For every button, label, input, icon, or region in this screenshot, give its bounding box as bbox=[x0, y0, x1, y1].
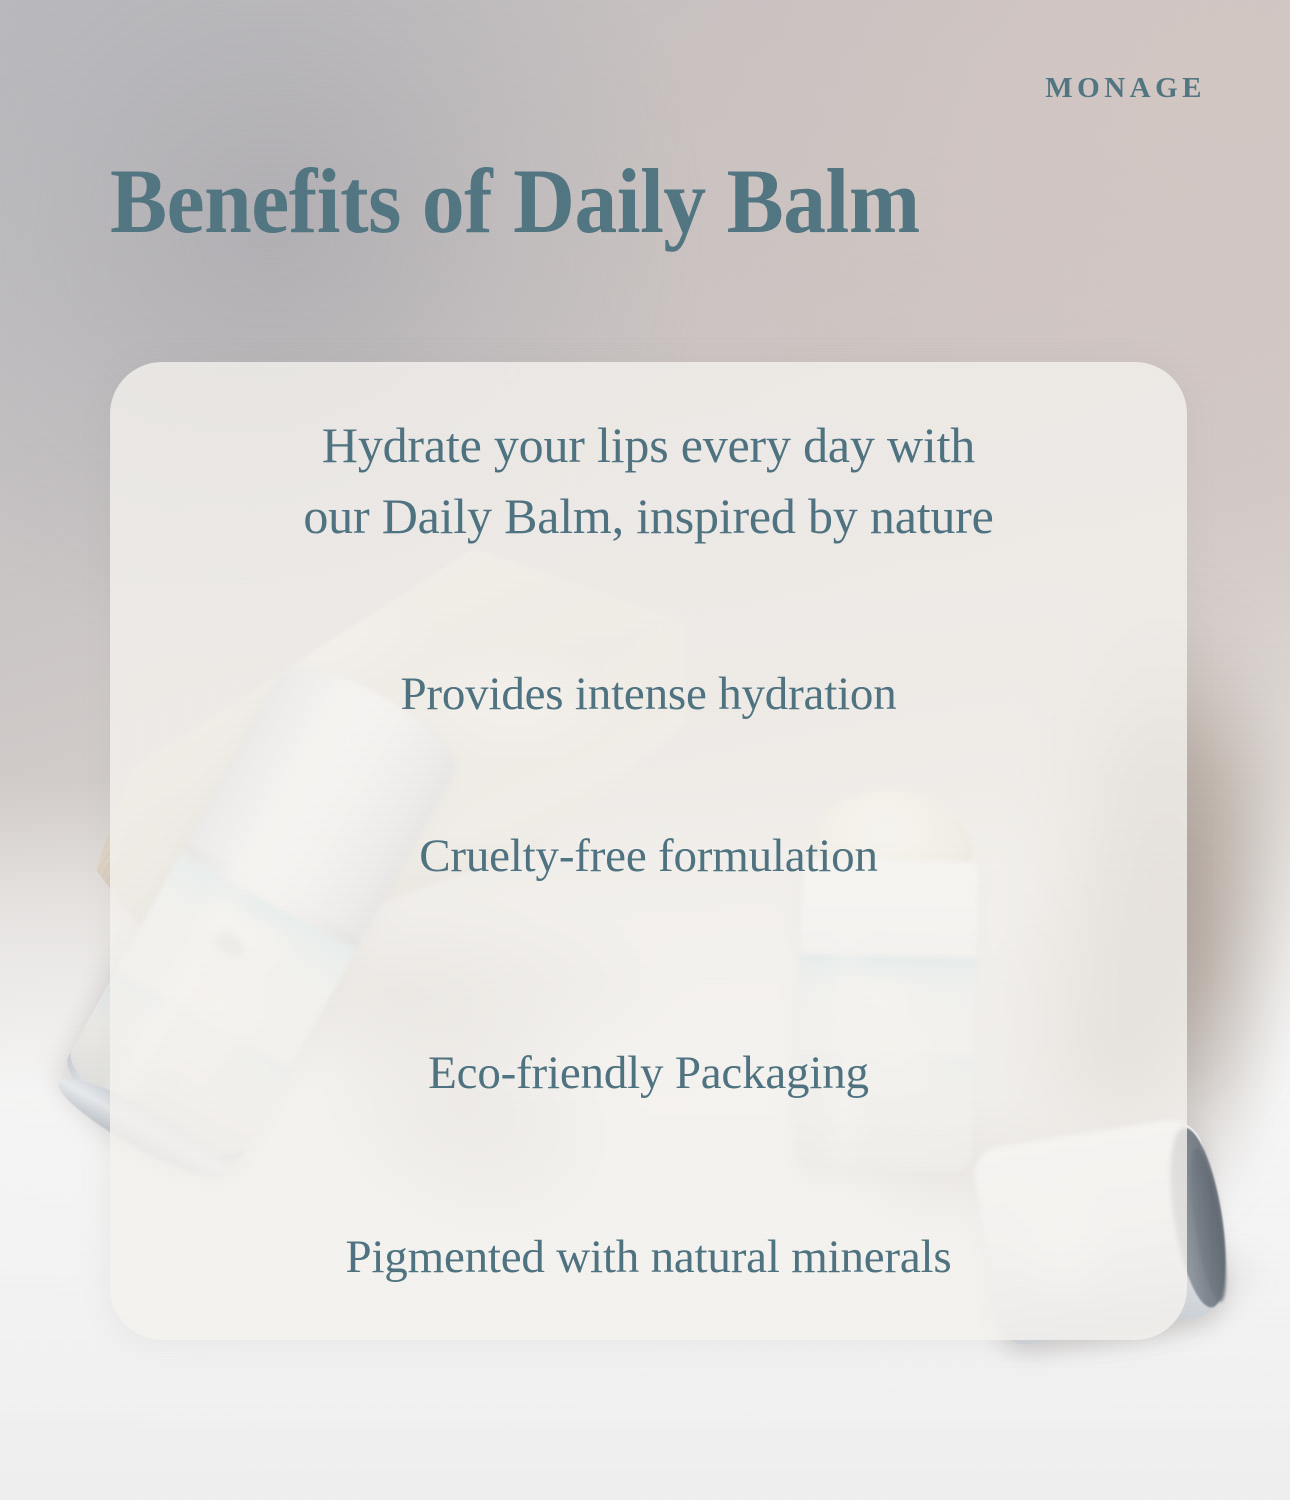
brand-wordmark: MONAGE bbox=[1045, 72, 1206, 105]
intro-line-2: our Daily Balm, inspired by nature bbox=[219, 481, 1079, 552]
benefit-item-1: Provides intense hydration bbox=[400, 667, 896, 721]
intro-copy: Hydrate your lips every day with our Dai… bbox=[219, 410, 1079, 552]
benefit-item-2: Cruelty-free formulation bbox=[419, 829, 878, 883]
intro-line-1: Hydrate your lips every day with bbox=[219, 410, 1079, 481]
benefits-list: Hydrate your lips every day with our Dai… bbox=[110, 362, 1187, 1340]
page-title: Benefits of Daily Balm bbox=[110, 148, 920, 254]
benefit-item-4: Pigmented with natural minerals bbox=[346, 1230, 952, 1284]
poster-canvas: MONAGE Multi Daily Balm 모나쥬 멀티 데일리 밤 MON… bbox=[0, 0, 1290, 1500]
benefit-item-3: Eco-friendly Packaging bbox=[428, 1046, 869, 1100]
